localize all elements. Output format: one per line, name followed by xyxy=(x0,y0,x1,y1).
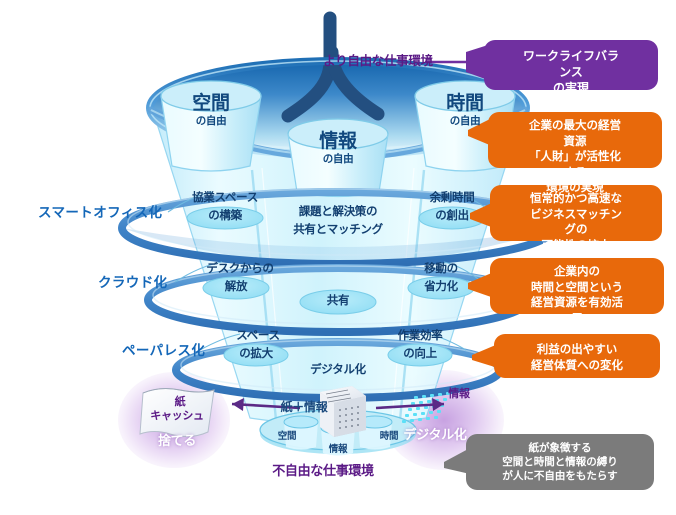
unfree-environment-label: 不自由な仕事環境 xyxy=(272,464,374,479)
cylinder-label-kukan: 空間 xyxy=(192,93,229,114)
paper-cash-line-2: キャッシュ xyxy=(150,410,204,422)
tsr-line-2: 時間と空間という xyxy=(528,281,627,297)
tier2-right-line2: 省力化 xyxy=(424,281,458,294)
tier3-left-line1: スペース xyxy=(236,330,279,343)
diagram-canvas: より自由な仕事環境 空間 の自由 情報 の自由 時間 の自由 スマートオフィス化… xyxy=(0,0,676,515)
callout-text-work-life-balance: ワークライフバランス の実現 xyxy=(519,48,624,97)
paper-cash-caption: 捨てる xyxy=(158,434,196,449)
tier3-left-line2: の拡大 xyxy=(239,348,273,361)
digital-label: 情報 xyxy=(448,388,469,400)
tier2-right-line1: 移動の xyxy=(424,263,458,276)
tier1-left-line1: 協業スペース xyxy=(192,192,258,205)
stage-label-paperless: ペーパレス化 xyxy=(122,343,205,358)
wlb-line-1: ワークライフバランス xyxy=(519,48,624,80)
base-label-kukan: 空間 xyxy=(278,432,296,443)
hc-line-1: 企業の最大の経営資源 xyxy=(525,119,626,150)
tier2-center-line1: 共有 xyxy=(327,295,349,308)
callout-text-profit-structure: 利益の出やすい 経営体質への変化 xyxy=(531,343,623,374)
wlb-line-2: の実現 xyxy=(519,80,624,96)
digital-caption: デジタル化 xyxy=(403,428,466,443)
callout-text-paper-constraint: 紙が象徴する 空間と時間と情報の縛り が人に不自由をもたらす xyxy=(502,441,618,484)
free-environment-label: より自由な仕事環境 xyxy=(323,54,433,68)
pc-line-3: が人に不自由をもたらす xyxy=(502,469,618,483)
paper-cash-line-1: 紙 xyxy=(175,396,186,408)
callout-text-human-capital: 企業の最大の経営資源 「人財」が活性化する 環境の実現 xyxy=(525,119,626,197)
cylinder-sub-jikan: の自由 xyxy=(450,116,481,128)
cylinder-sub-kukan: の自由 xyxy=(196,116,227,128)
cylinder-label-joho: 情報 xyxy=(319,131,356,152)
tier2-left-line1: デスクからの xyxy=(206,263,273,276)
stage-label-cloud: クラウド化 xyxy=(98,275,168,290)
pc-line-1: 紙が象徴する xyxy=(502,441,618,455)
tier1-left-line2: の構築 xyxy=(208,210,242,223)
tier3-center-line1: デジタル化 xyxy=(310,364,366,377)
ps-line-1: 利益の出やすい xyxy=(531,343,623,359)
tier1-center-line1: 課題と解決策の xyxy=(299,206,377,219)
tier3-right-line1: 作業効率 xyxy=(398,330,443,343)
ps-line-2: 経営体質への変化 xyxy=(531,359,623,375)
hc-line-2: 「人財」が活性化する xyxy=(525,150,626,181)
cylinder-sub-joho: の自由 xyxy=(323,154,354,166)
base-label-joho: 情報 xyxy=(329,445,347,456)
bm-line-2: ビジネスマッチングの xyxy=(526,208,626,239)
stage-label-smart-office: スマートオフィス化 xyxy=(38,205,162,220)
tier1-right-line1: 余剰時間 xyxy=(430,192,475,205)
center-node-label: 紙＋情報 xyxy=(281,401,328,414)
base-label-jikan: 時間 xyxy=(380,432,398,443)
tsr-line-1: 企業内の xyxy=(528,265,627,281)
tier2-left-line2: 解放 xyxy=(225,281,247,294)
tier1-right-line2: の創出 xyxy=(435,210,469,223)
bm-line-1: 恒常的かつ高速な xyxy=(526,192,626,208)
tier1-center-line2: 共有とマッチング xyxy=(293,224,383,237)
pc-line-2: 空間と時間と情報の縛り xyxy=(502,455,618,469)
tsr-line-3: 経営資源を有効活用 xyxy=(528,296,627,327)
callout-text-business-matching: 恒常的かつ高速な ビジネスマッチングの 可能性の拡大 xyxy=(526,192,626,254)
cylinder-label-jikan: 時間 xyxy=(446,93,483,114)
tier3-right-line2: の向上 xyxy=(403,348,437,361)
callout-text-time-space-resource: 企業内の 時間と空間という 経営資源を有効活用 xyxy=(528,265,627,327)
bm-line-3: 可能性の拡大 xyxy=(526,239,626,255)
